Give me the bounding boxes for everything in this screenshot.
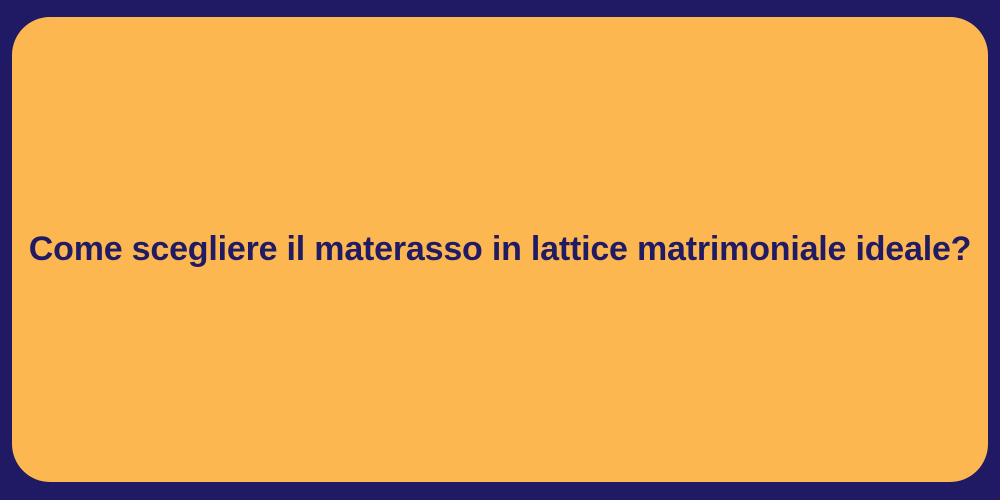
content-card: Come scegliere il materasso in lattice m… <box>12 17 988 482</box>
page-background: Come scegliere il materasso in lattice m… <box>0 0 1000 500</box>
page-title: Come scegliere il materasso in lattice m… <box>29 228 971 271</box>
headline-container: Come scegliere il materasso in lattice m… <box>12 228 988 271</box>
